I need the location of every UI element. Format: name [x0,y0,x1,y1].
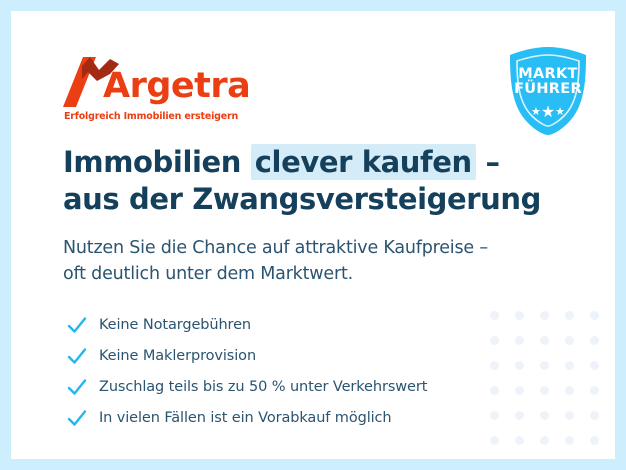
decorative-dot [565,386,574,395]
decorative-dot [540,411,549,420]
decorative-dot [565,311,574,320]
check-icon [65,344,89,368]
decorative-dot [515,361,524,370]
badge-line-2: FÜHRER [500,82,596,97]
brand-logo[interactable]: Argetra Erfolgreich Immobilien ersteiger… [63,55,263,129]
list-item-label: In vielen Fällen ist ein Vorabkauf mögli… [99,410,392,426]
promo-card: Argetra Erfolgreich Immobilien ersteiger… [0,0,626,470]
benefits-list: Keine Notargebühren Keine Maklerprovisio… [65,309,505,433]
check-icon [65,375,89,399]
decorative-dot [565,336,574,345]
decorative-dot [590,461,599,470]
decorative-dot [540,386,549,395]
check-icon [65,406,89,430]
decorative-dot [515,436,524,445]
decorative-dot [540,461,549,470]
subheadline-line-1: Nutzen Sie die Chance auf attraktive Kau… [63,235,488,261]
list-item: Zuschlag teils bis zu 50 % unter Verkehr… [65,371,505,402]
market-leader-badge: MARKT FÜHRER ★★★ [500,43,596,139]
decorative-dot [590,311,599,320]
decorative-dot [515,336,524,345]
list-item: Keine Notargebühren [65,309,505,340]
subheadline: Nutzen Sie die Chance auf attraktive Kau… [63,235,488,288]
decorative-dot [590,411,599,420]
decorative-dot [540,436,549,445]
headline-line-1-before: Immobilien [63,145,251,179]
decorative-dot [515,411,524,420]
decorative-dot [590,336,599,345]
decorative-dot [515,386,524,395]
badge-line-1: MARKT [500,67,596,82]
brand-tagline: Erfolgreich Immobilien ersteigern [64,111,238,122]
list-item-label: Keine Notargebühren [99,317,251,333]
subheadline-line-2: oft deutlich unter dem Marktwert. [63,261,488,287]
decorative-dot [490,461,499,470]
headline-highlight: clever kaufen [251,144,476,180]
decorative-dot [565,436,574,445]
decorative-dot [515,311,524,320]
list-item-label: Zuschlag teils bis zu 50 % unter Verkehr… [99,379,427,395]
check-icon [65,313,89,337]
decorative-dot [565,461,574,470]
headline-line-1: Immobilien clever kaufen – [63,144,541,181]
decorative-dot [590,386,599,395]
list-item: Keine Maklerprovision [65,340,505,371]
decorative-dot [540,361,549,370]
decorative-dot [565,361,574,370]
badge-text: MARKT FÜHRER [500,67,596,97]
decorative-dot [490,436,499,445]
decorative-dot [540,311,549,320]
brand-name: Argetra [103,69,250,104]
decorative-dot [540,336,549,345]
decorative-dot [590,436,599,445]
list-item-label: Keine Maklerprovision [99,348,256,364]
list-item: In vielen Fällen ist ein Vorabkauf mögli… [65,402,505,433]
headline-line-1-after: – [476,145,500,179]
decorative-dot-grid [490,311,615,470]
decorative-dot [515,461,524,470]
decorative-dot [565,411,574,420]
headline-line-2: aus der Zwangsversteigerung [63,181,541,218]
badge-stars-icon: ★★★ [500,105,596,121]
decorative-dot [590,361,599,370]
page-title: Immobilien clever kaufen – aus der Zwang… [63,144,541,218]
